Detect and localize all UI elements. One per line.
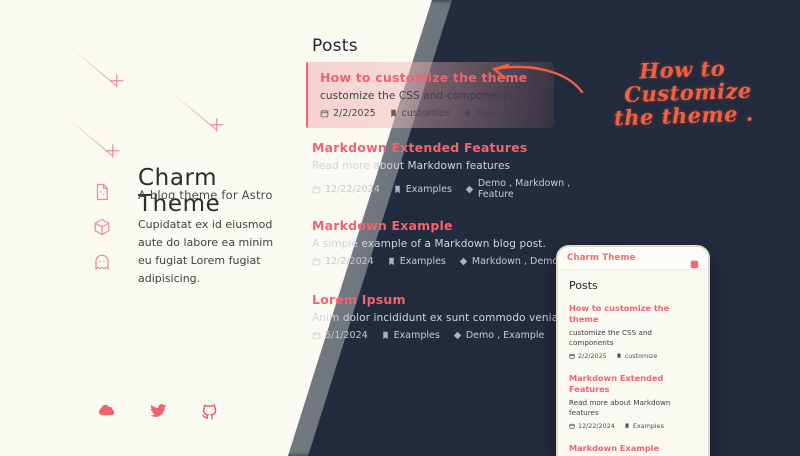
- bookmark-icon: [393, 185, 402, 194]
- post-category[interactable]: Examples: [387, 256, 446, 267]
- sidebar-nav-icons: [93, 183, 111, 271]
- post-tags[interactable]: Demo , Markdown , Feature: [465, 178, 608, 200]
- tag-icon: [459, 257, 468, 266]
- post-title[interactable]: Markdown Example: [312, 218, 608, 233]
- post-category-label: customize: [402, 108, 450, 119]
- post-date: 12/2/2024: [312, 256, 374, 267]
- calendar-icon: [569, 353, 575, 359]
- phone-mockup: Charm Theme Posts How to customize the t…: [556, 245, 710, 456]
- post-description: Read more about Markdown features: [312, 160, 608, 172]
- bookmark-icon: [389, 109, 398, 118]
- phone-post-description: Read more about Markdown features: [569, 398, 697, 418]
- phone-post-category[interactable]: customize: [616, 352, 658, 360]
- tag-icon: [463, 109, 472, 118]
- post-category[interactable]: Examples: [393, 184, 452, 195]
- phone-post-card[interactable]: Markdown Extended Features Read more abo…: [569, 373, 697, 430]
- post-tags-label: Demo , Markdown , Feature: [478, 178, 608, 200]
- phone-content: Posts How to customize the theme customi…: [558, 270, 708, 454]
- phone-post-date: 2/2/2025: [569, 352, 607, 360]
- phone-post-category[interactable]: Examples: [624, 422, 664, 430]
- post-category[interactable]: Examples: [381, 330, 440, 341]
- phone-post-description: customize the CSS and components: [569, 328, 697, 348]
- post-tags[interactable]: Markdown , Demo: [459, 256, 558, 267]
- page-root: Charm Theme A blog theme for Astro Cupid…: [0, 0, 800, 456]
- phone-posts-heading: Posts: [569, 279, 697, 292]
- phone-post-title[interactable]: Markdown Example: [569, 443, 697, 454]
- menu-icon[interactable]: [690, 254, 699, 263]
- phone-post-category-label: customize: [625, 352, 658, 360]
- post-date-label: 12/2/2024: [325, 256, 374, 267]
- phone-brand-title: Charm Theme: [567, 253, 635, 263]
- annotation-text: How to Customize the theme .: [567, 54, 799, 131]
- twitter-icon[interactable]: [149, 401, 168, 420]
- phone-post-meta: 2/2/2025 customize: [569, 352, 697, 360]
- post-meta: 12/22/2024 Examples Demo , Markdown , Fe…: [312, 178, 608, 200]
- post-date: 2/2/2025: [320, 108, 376, 119]
- phone-topbar: Charm Theme: [558, 247, 708, 270]
- calendar-icon: [320, 109, 329, 118]
- package-icon[interactable]: [93, 218, 111, 236]
- post-date: 5/1/2024: [312, 330, 368, 341]
- tag-icon: [453, 331, 462, 340]
- page-subtitle: A blog theme for Astro: [138, 188, 273, 202]
- post-card[interactable]: Markdown Extended Features Read more abo…: [312, 140, 608, 200]
- sidebar: Charm Theme A blog theme for Astro Cupid…: [0, 0, 300, 456]
- calendar-icon: [569, 423, 575, 429]
- post-date-label: 2/2/2025: [333, 108, 376, 119]
- github-icon[interactable]: [200, 401, 219, 420]
- ghost-icon[interactable]: [93, 253, 111, 271]
- phone-post-title[interactable]: Markdown Extended Features: [569, 373, 697, 395]
- bookmark-icon: [381, 331, 390, 340]
- post-tags-label: Markdown , Demo: [472, 256, 558, 267]
- bookmark-icon: [624, 423, 630, 429]
- calendar-icon: [312, 185, 321, 194]
- post-tags-label: Example: [476, 108, 517, 119]
- tag-icon: [465, 185, 474, 194]
- post-tags[interactable]: Demo , Example: [453, 330, 545, 341]
- phone-post-category-label: Examples: [633, 422, 664, 430]
- phone-post-date: 12/22/2024: [569, 422, 615, 430]
- post-meta: 2/2/2025 customize Example: [320, 108, 544, 119]
- post-date: 12/22/2024: [312, 184, 380, 195]
- post-category-label: Examples: [394, 330, 440, 341]
- phone-post-date-label: 12/22/2024: [578, 422, 615, 430]
- cloud-icon[interactable]: [98, 401, 117, 420]
- phone-post-date-label: 2/2/2025: [578, 352, 607, 360]
- post-date-label: 12/22/2024: [325, 184, 380, 195]
- phone-post-meta: 12/22/2024 Examples: [569, 422, 697, 430]
- phone-post-card[interactable]: Markdown Example: [569, 443, 697, 454]
- page-icon[interactable]: [93, 183, 111, 201]
- social-links: [98, 401, 219, 420]
- post-category[interactable]: customize: [389, 108, 450, 119]
- posts-heading: Posts: [312, 36, 358, 56]
- post-tags-label: Demo , Example: [466, 330, 545, 341]
- bookmark-icon: [387, 257, 396, 266]
- post-title[interactable]: Markdown Extended Features: [312, 140, 608, 155]
- calendar-icon: [312, 257, 321, 266]
- post-tags[interactable]: Example: [463, 108, 517, 119]
- post-category-label: Examples: [400, 256, 446, 267]
- post-date-label: 5/1/2024: [325, 330, 368, 341]
- bookmark-icon: [616, 353, 622, 359]
- post-category-label: Examples: [406, 184, 452, 195]
- phone-post-title[interactable]: How to customize the theme: [569, 303, 697, 325]
- calendar-icon: [312, 331, 321, 340]
- page-description: Cupidatat ex id eiusmod aute do labore e…: [138, 216, 288, 288]
- phone-post-card[interactable]: How to customize the theme customize the…: [569, 303, 697, 360]
